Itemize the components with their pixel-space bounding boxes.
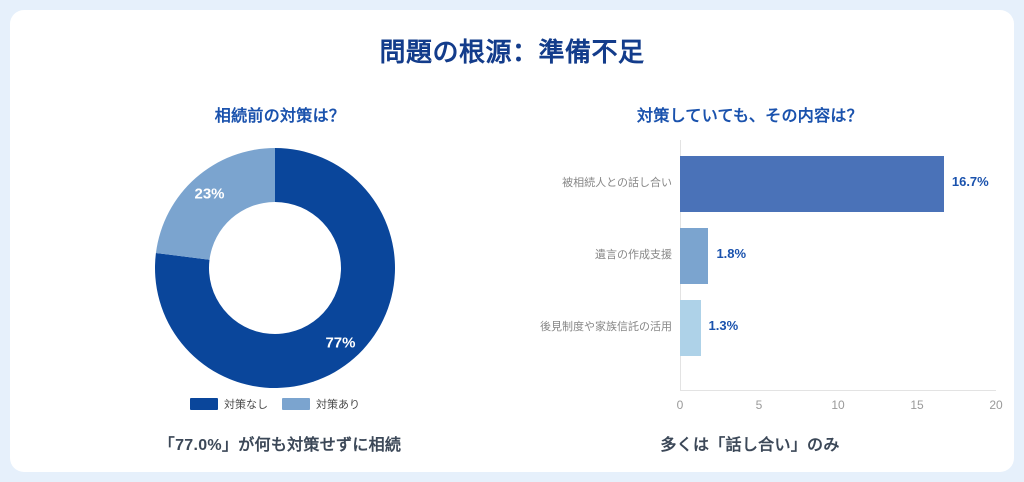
bar-category-label: 被相続人との話し合い [510,174,672,190]
x-axis-tick-label: 15 [910,398,923,412]
donut-slice[interactable] [156,148,275,260]
legend-swatch-icon [190,398,218,410]
legend-item-0[interactable]: 対策なし [190,396,268,412]
bar-chart-caption: 多くは「話し合い」のみ [510,431,990,455]
legend-item-1[interactable]: 対策あり [282,396,360,412]
bar-chart-title: 対策していても、その内容は？ [510,102,990,126]
legend-swatch-icon [282,398,310,410]
donut-slices [155,148,395,388]
donut-slice-label-0: 77% [325,334,355,351]
bar-value-label: 16.7% [952,174,989,189]
bar-chart-row: 後見制度や家族信託の活用1.3% [510,292,1010,364]
bar-category-label: 遺言の作成支援 [510,246,672,262]
donut-chart-title: 相続前の対策は？ [40,102,520,126]
bar-chart-row: 被相続人との話し合い16.7% [510,148,1010,220]
bar-segment[interactable] [680,228,708,284]
x-axis-tick-label: 20 [989,398,1002,412]
donut-chart-caption: 「77.0%」が何も対策せずに相続 [40,431,520,455]
bar-value-label: 1.3% [709,318,739,333]
donut-svg: 77% 23% [155,148,395,388]
donut-slice-label-1: 23% [195,186,225,203]
x-axis-tick-label: 5 [756,398,763,412]
bar-value-label: 1.8% [716,246,746,261]
bar-chart: 被相続人との話し合い16.7%遺言の作成支援1.8%後見制度や家族信託の活用1.… [510,140,1010,430]
donut-chart: 77% 23% [155,148,395,388]
x-axis-tick-label: 0 [677,398,684,412]
donut-legend: 対策なし 対策あり [155,396,395,412]
bar-segment[interactable] [680,300,701,356]
legend-label: 対策なし [224,396,268,412]
bar-chart-x-axis [680,390,996,391]
x-axis-tick-label: 10 [831,398,844,412]
legend-label: 対策あり [316,396,360,412]
page-title: 問題の根源：準備不足 [10,32,1014,69]
content-card: 問題の根源：準備不足 相続前の対策は？ 77% 23% 対策なし 対策あり 「7… [10,10,1014,472]
bar-category-label: 後見制度や家族信託の活用 [510,318,672,334]
bar-segment[interactable] [680,156,944,212]
bar-chart-row: 遺言の作成支援1.8% [510,220,1010,292]
